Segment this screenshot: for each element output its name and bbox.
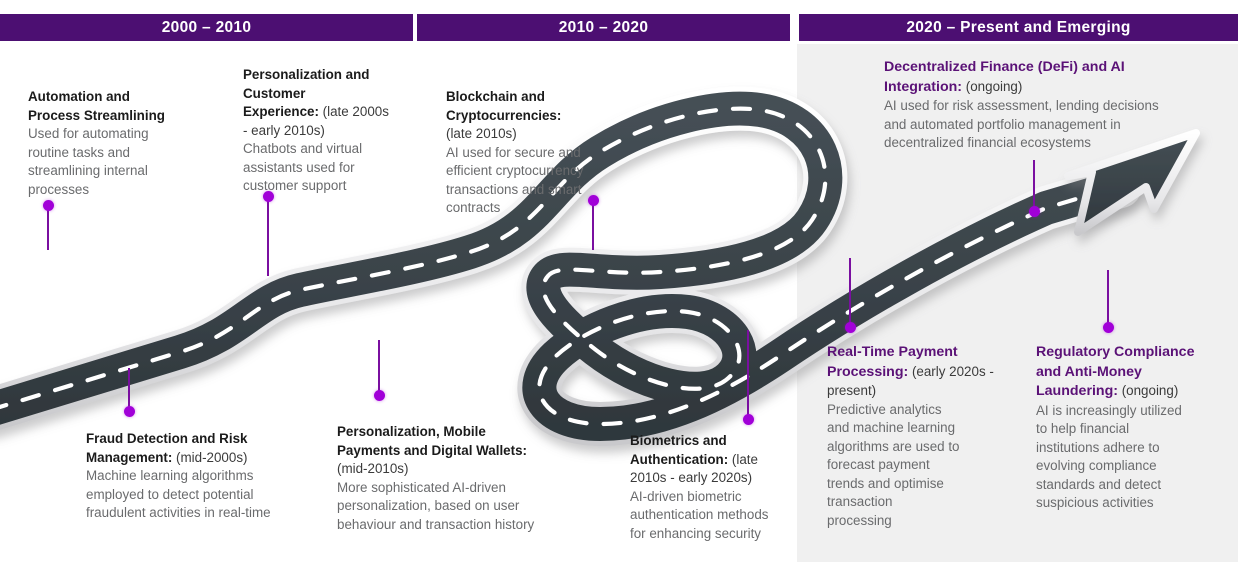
callout-body-line: customer support [243, 177, 393, 196]
callout-body-line: authentication methods [630, 506, 790, 525]
pin-dot [374, 390, 385, 401]
callout-body-line: AI-driven biometric [630, 488, 790, 507]
callout-body-line: trends and optimise [827, 475, 1002, 494]
callout-body-line: contracts [446, 199, 606, 218]
callout-title-period-line: Management: (mid-2000s) [86, 449, 316, 468]
callout-body-line: standards and detect [1036, 476, 1236, 495]
callout-title-line: Regulatory Compliance [1036, 343, 1236, 363]
callout-title-line: Automation and [28, 88, 218, 107]
pin-personalization-mobile-payments [378, 340, 380, 396]
pin-dot [845, 322, 856, 333]
callout-body-line: AI is increasingly utilized [1036, 402, 1236, 421]
callout-title-period-line: Experience: (late 2000s - early 2010s) [243, 103, 393, 140]
callout-body-line: suspicious activities [1036, 494, 1236, 513]
callout-title-line: Processing: [827, 364, 908, 380]
callout-title-line: Blockchain and [446, 88, 606, 107]
callout-body-line: AI used for risk assessment, lending dec… [884, 97, 1229, 116]
era-header-2010-2020: 2010 – 2020 [417, 14, 790, 41]
callout-body-line: institutions adhere to [1036, 439, 1236, 458]
callout-period: (mid-2010s) [337, 460, 577, 479]
pin-automation-process-streamlining [47, 205, 49, 250]
callout-title-line: Customer [243, 85, 393, 104]
callout-title-line: Decentralized Finance (DeFi) and AI [884, 58, 1229, 78]
timeline-infographic: 2000 – 2010 2010 – 2020 2020 – Present a… [0, 0, 1246, 562]
pin-personalization-customer-experience [267, 196, 269, 276]
pin-dot [1103, 322, 1114, 333]
era-header-label: 2010 – 2020 [559, 19, 649, 37]
callout-title-line: Laundering: [1036, 383, 1118, 399]
callout-body-line: behaviour and transaction history [337, 516, 577, 535]
callout-body-line: personalization, based on user [337, 497, 577, 516]
pin-dot [124, 406, 135, 417]
callout-body-line: evolving compliance [1036, 457, 1236, 476]
pin-fraud-detection-risk-management [128, 368, 130, 412]
pin-decentralized-finance-ai [1033, 160, 1035, 212]
pin-real-time-payment-processing [849, 258, 851, 328]
era-header-label: 2000 – 2010 [162, 19, 252, 37]
callout-body-line: efficient cryptocurrency [446, 162, 606, 181]
callout-body-line: to help financial [1036, 420, 1236, 439]
callout-body-line: transaction [827, 493, 1002, 512]
callout-body-line: Machine learning algorithms [86, 467, 316, 486]
callout-body-line: streamlining internal [28, 162, 218, 181]
callout-title-line: Integration: [884, 79, 962, 95]
pin-dot [43, 200, 54, 211]
callout-body-line: assistants used for [243, 159, 393, 178]
callout-decentralized-finance-ai-integration: Decentralized Finance (DeFi) and AI Inte… [884, 58, 1229, 153]
callout-personalization-mobile-payments: Personalization, Mobile Payments and Dig… [337, 423, 577, 534]
era-header-label: 2020 – Present and Emerging [906, 19, 1130, 37]
callout-fraud-detection-risk-management: Fraud Detection and Risk Management: (mi… [86, 430, 316, 523]
callout-real-time-payment-processing: Real-Time Payment Processing: (early 202… [827, 343, 1002, 530]
callout-body-line: fraudulent activities in real-time [86, 504, 316, 523]
callout-body-line: More sophisticated AI-driven [337, 479, 577, 498]
era-header-2000-2010: 2000 – 2010 [0, 14, 413, 41]
callout-body-line: routine tasks and [28, 144, 218, 163]
era-header-2020-present: 2020 – Present and Emerging [799, 14, 1238, 41]
callout-regulatory-compliance-anti-money-laundering: Regulatory Compliance and Anti-Money Lau… [1036, 343, 1236, 513]
callout-title-line: Experience: [243, 104, 319, 119]
callout-body-line: for enhancing security [630, 525, 790, 544]
callout-body-line: processes [28, 181, 218, 200]
callout-body-line: forecast payment [827, 456, 1002, 475]
callout-title-line: Authentication: [630, 452, 728, 467]
callout-title-period-line: Processing: (early 2020s - present) [827, 363, 1002, 401]
callout-title-period-line: Laundering: (ongoing) [1036, 382, 1236, 402]
callout-body-line: transactions and smart [446, 181, 606, 200]
callout-period: (late 2010s) [446, 125, 606, 144]
callout-body-line: Used for automating [28, 125, 218, 144]
callout-period: (mid-2000s) [176, 450, 247, 465]
callout-title-line: Payments and Digital Wallets: [337, 442, 577, 461]
callout-title-line: Cryptocurrencies: [446, 107, 606, 126]
callout-title-line: Real-Time Payment [827, 343, 1002, 363]
callout-body-line: AI used for secure and [446, 144, 606, 163]
callout-body-line: decentralized financial ecosystems [884, 134, 1229, 153]
callout-period: (ongoing) [1122, 383, 1179, 398]
callout-body-line: Chatbots and virtual [243, 140, 393, 159]
callout-title-line: Management: [86, 450, 172, 465]
callout-body-line: employed to detect potential [86, 486, 316, 505]
callout-body-line: algorithms are used to [827, 438, 1002, 457]
callout-body-line: processing [827, 512, 1002, 531]
callout-personalization-customer-experience: Personalization and Customer Experience:… [243, 66, 393, 196]
callout-automation-process-streamlining: Automation and Process Streamlining Used… [28, 88, 218, 199]
callout-biometrics-authentication: Biometrics and Authentication: (late 201… [630, 432, 790, 543]
callout-body-line: and automated portfolio management in [884, 116, 1229, 135]
callout-body-line: Predictive analytics [827, 401, 1002, 420]
callout-title-line: Personalization, Mobile [337, 423, 577, 442]
pin-dot [1029, 206, 1040, 217]
pin-regulatory-compliance-aml [1107, 270, 1109, 328]
callout-title-period-line: Integration: (ongoing) [884, 78, 1229, 98]
pin-biometrics-authentication [747, 330, 749, 420]
callout-title-period-line: Authentication: (late 2010s - early 2020… [630, 451, 790, 488]
callout-body-line: and machine learning [827, 419, 1002, 438]
callout-title-line: Process Streamlining [28, 107, 218, 126]
pin-dot [743, 414, 754, 425]
callout-title-line: Fraud Detection and Risk [86, 430, 316, 449]
callout-title-line: Biometrics and [630, 432, 790, 451]
callout-title-line: Personalization and [243, 66, 393, 85]
callout-blockchain-cryptocurrencies: Blockchain and Cryptocurrencies: (late 2… [446, 88, 606, 218]
callout-title-line: and Anti-Money [1036, 363, 1236, 383]
callout-period: (ongoing) [966, 79, 1023, 94]
